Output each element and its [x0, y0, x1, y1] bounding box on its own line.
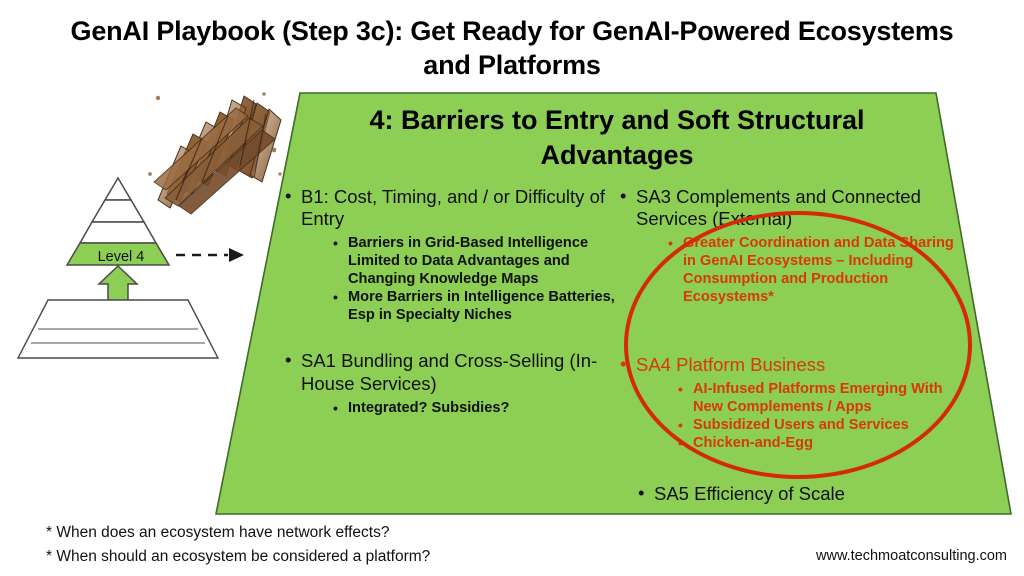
bullet-glyph-icon: •: [285, 349, 291, 371]
bullet-sa3: • SA3 Complements and Connected Services…: [620, 186, 960, 230]
footnote-2: * When should an ecosystem be considered…: [46, 545, 430, 569]
website-url: www.techmoatconsulting.com: [816, 548, 1007, 564]
sub-bullet-sa4-3-label: Chicken-and-Egg: [693, 435, 813, 451]
bullet-sa4-label: SA4 Platform Business: [636, 354, 825, 375]
sub-bullet-b1-1: • Barriers in Grid-Based Intelligence Li…: [333, 235, 615, 288]
panel-heading: 4: Barriers to Entry and Soft Structural…: [312, 103, 922, 172]
sub-bullet-b1-1-label: Barriers in Grid-Based Intelligence Limi…: [348, 235, 588, 287]
page-title: GenAI Playbook (Step 3c): Get Ready for …: [60, 14, 964, 83]
sub-bullet-sa3-1: • Greater Coordination and Data Sharing …: [668, 235, 960, 306]
up-arrow-icon: [99, 266, 137, 301]
sub-bullet-b1-2: • More Barriers in Intelligence Batterie…: [333, 289, 615, 325]
bullet-glyph-icon: •: [678, 381, 683, 398]
sub-bullet-sa1-1: • Integrated? Subsidies?: [333, 400, 615, 418]
bullet-glyph-icon: •: [668, 235, 673, 252]
bullet-glyph-icon: •: [333, 289, 338, 306]
sub-bullet-sa3-1-label: Greater Coordination and Data Sharing in…: [683, 235, 954, 304]
bullet-b1-label: B1: Cost, Timing, and / or Difficulty of…: [301, 186, 605, 229]
sub-bullet-sa4-1: • AI-Infused Platforms Emerging With New…: [678, 381, 960, 417]
sub-bullet-sa1-1-label: Integrated? Subsidies?: [348, 400, 509, 416]
sub-bullet-sa4-2: • Subsidized Users and Services: [678, 417, 960, 435]
bullet-glyph-icon: •: [638, 482, 644, 504]
sub-bullet-sa4-2-label: Subsidized Users and Services: [693, 417, 909, 433]
group-sa4: • SA4 Platform Business • AI-Infused Pla…: [620, 354, 960, 452]
pyramid-tier-2: [80, 222, 156, 243]
bullet-glyph-icon: •: [678, 435, 683, 452]
sub-bullet-sa4-1-label: AI-Infused Platforms Emerging With New C…: [693, 381, 943, 415]
footnotes: * When does an ecosystem have network ef…: [46, 521, 430, 568]
bullet-sa3-label: SA3 Complements and Connected Services (…: [636, 186, 921, 229]
bullet-sa1-label: SA1 Bundling and Cross-Selling (In-House…: [301, 350, 597, 393]
bullet-sa5: • SA5 Efficiency of Scale: [638, 483, 978, 505]
pyramid-level4-label: Level 4: [63, 249, 179, 265]
sub-bullet-b1-2-label: More Barriers in Intelligence Batteries,…: [348, 289, 615, 323]
bullet-sa4: • SA4 Platform Business: [620, 354, 960, 376]
dashed-connector-arrow-icon: [176, 248, 244, 262]
bullet-glyph-icon: •: [678, 417, 683, 434]
sub-bullet-sa4-3: • Chicken-and-Egg: [678, 435, 960, 453]
bullet-sa1: • SA1 Bundling and Cross-Selling (In-Hou…: [285, 350, 615, 394]
bullet-glyph-icon: •: [333, 400, 338, 417]
spacer: [285, 324, 615, 350]
group-sa3: • SA3 Complements and Connected Services…: [620, 186, 960, 307]
bullet-glyph-icon: •: [333, 235, 338, 252]
bullet-glyph-icon: •: [620, 353, 626, 375]
left-bullet-column: • B1: Cost, Timing, and / or Difficulty …: [285, 186, 615, 418]
footnote-1: * When does an ecosystem have network ef…: [46, 521, 430, 545]
bullet-b1: • B1: Cost, Timing, and / or Difficulty …: [285, 186, 615, 230]
group-sa5: • SA5 Efficiency of Scale: [638, 483, 978, 505]
bullet-sa5-label: SA5 Efficiency of Scale: [654, 483, 845, 504]
pyramid-apex: [105, 178, 131, 200]
slide-canvas: GenAI Playbook (Step 3c): Get Ready for …: [0, 0, 1024, 576]
wooden-barrier-logs-icon: [136, 78, 286, 218]
bullet-glyph-icon: •: [620, 185, 626, 207]
